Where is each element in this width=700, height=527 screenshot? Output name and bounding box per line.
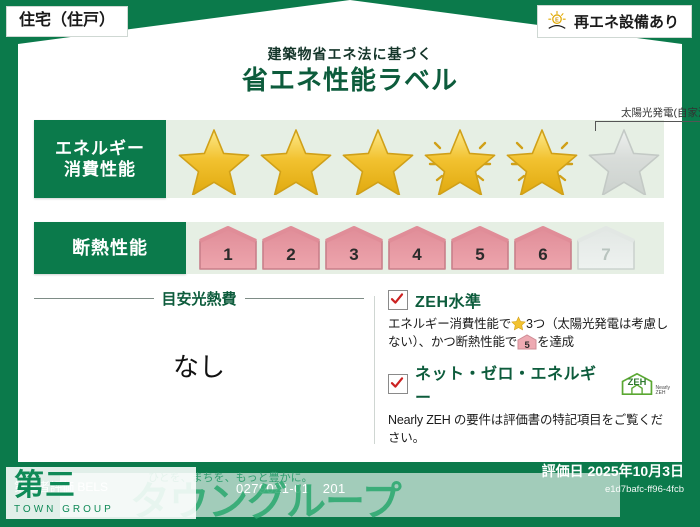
sun-icon: E <box>546 10 568 32</box>
zeh-desc-part1: エネルギー消費性能で <box>388 317 511 331</box>
footer-eval-id: e1d7bafc-ff96-4fcb <box>542 484 684 495</box>
insulation-grade-value: 4 <box>412 245 421 270</box>
insulation-grade-value: 2 <box>286 245 295 270</box>
insulation-grade-value: 7 <box>601 245 610 270</box>
energy-label-line2: 消費性能 <box>64 159 136 180</box>
net-zero-energy-header: ネット・ゼロ・エネルギー ZEH Nearly ZEH <box>388 360 670 408</box>
title-block: 建築物省エネ法に基づく 省エネ性能ラベル <box>0 44 700 94</box>
star-2 <box>256 123 336 195</box>
insulation-grade-2: 2 <box>261 226 321 270</box>
insulation-grade-list: 1 2 3 <box>198 226 636 270</box>
footer-third-party-eval: 第三者評価 BELS <box>14 478 108 495</box>
zeh-desc-star-count: 3つ <box>526 317 545 331</box>
inline-grade-badge: 5 <box>517 334 537 350</box>
insulation-grade-5: 5 <box>450 226 510 270</box>
energy-label-line1: エネルギー <box>55 138 145 159</box>
solar-badge-label: 再エネ設備あり <box>574 11 679 32</box>
zeh-section: ZEH水準 エネルギー消費性能で3つ（太陽光発電は考慮しない）、かつ断熱性能で5… <box>388 288 670 457</box>
inline-star-icon <box>511 316 526 331</box>
label-footer: 第三者評価 BELS 0279021-01 201 評価日 2025年10月3日… <box>0 463 700 525</box>
solar-generation-annotation: 太陽光発電(自家消費)分 <box>587 108 700 131</box>
zeh-standard-checkbox[interactable] <box>388 290 408 310</box>
utility-cost-section: 目安光熱費 なし <box>34 288 364 448</box>
inline-grade-value: 5 <box>517 341 537 351</box>
net-zero-energy-title: ネット・ゼロ・エネルギー <box>415 360 613 408</box>
zeh-house-icon: ZEH <box>620 372 654 396</box>
insulation-grade-value: 3 <box>349 245 358 270</box>
footer-eval-date: 評価日 2025年10月3日 <box>542 461 684 481</box>
insulation-grade-3: 3 <box>324 226 384 270</box>
star-3 <box>338 123 418 195</box>
insulation-grade-1: 1 <box>198 226 258 270</box>
zeh-standard-header: ZEH水準 <box>388 288 670 312</box>
insulation-grade-6: 6 <box>513 226 573 270</box>
title-subtitle: 建築物省エネ法に基づく <box>0 44 700 64</box>
rule-right <box>245 298 365 299</box>
check-icon <box>390 292 404 306</box>
star-4 <box>420 123 500 195</box>
net-zero-energy-checkbox[interactable] <box>388 374 408 394</box>
energy-performance-label: 住宅（住戸） E 再エネ設備あり 建築物省エネ法に基づく 省エネ性能ラベル <box>0 0 700 525</box>
insulation-grade-value: 1 <box>223 245 232 270</box>
footer-eval-info: 評価日 2025年10月3日 e1d7bafc-ff96-4fcb <box>542 461 684 495</box>
zeh-standard-item: ZEH水準 エネルギー消費性能で3つ（太陽光発電は考慮しない）、かつ断熱性能で5… <box>388 288 670 351</box>
insulation-performance-row: 断熱性能 1 2 <box>34 222 664 274</box>
insulation-grade-4: 4 <box>387 226 447 270</box>
star-rating <box>174 123 664 195</box>
zeh-logo-sub2: ZEH <box>656 390 666 396</box>
building-type-label: 住宅（住戸） <box>19 12 115 29</box>
footer-certificate-number: 0279021-01 201 <box>236 478 346 497</box>
section-divider <box>374 296 375 444</box>
star-5 <box>502 123 582 195</box>
energy-performance-label-box: エネルギー 消費性能 <box>34 120 166 198</box>
rule-left <box>34 298 154 299</box>
solar-equipment-badge[interactable]: E 再エネ設備あり <box>537 5 692 38</box>
net-zero-energy-item: ネット・ゼロ・エネルギー ZEH Nearly ZEH Nearly ZEH の… <box>388 360 670 447</box>
insulation-grade-7: 7 <box>576 226 636 270</box>
solar-annotation-bracket <box>595 121 700 131</box>
zeh-standard-title: ZEH水準 <box>415 288 482 312</box>
insulation-grades-panel: 1 2 3 <box>186 222 664 274</box>
solar-annotation-text: 太陽光発電(自家消費)分 <box>587 108 700 119</box>
energy-performance-row: エネルギー 消費性能 太陽光発電(自家消費)分 <box>34 120 664 198</box>
zeh-standard-description: エネルギー消費性能で3つ（太陽光発電は考慮しない）、かつ断熱性能で5を達成 <box>388 315 670 351</box>
insulation-grade-value: 5 <box>475 245 484 270</box>
insulation-label: 断熱性能 <box>72 237 148 260</box>
utility-cost-value: なし <box>34 347 364 384</box>
insulation-label-box: 断熱性能 <box>34 222 186 274</box>
insulation-grade-value: 6 <box>538 245 547 270</box>
zeh-desc-part3: を達成 <box>537 335 574 349</box>
utility-cost-title: 目安光熱費 <box>162 288 237 309</box>
utility-cost-heading: 目安光熱費 <box>34 288 364 309</box>
building-type-tab[interactable]: 住宅（住戸） <box>6 6 128 37</box>
svg-text:ZEH: ZEH <box>627 377 646 387</box>
check-icon <box>390 376 404 390</box>
star-6 <box>584 123 664 195</box>
zeh-logo: ZEH Nearly ZEH <box>620 372 670 396</box>
energy-stars-panel: 太陽光発電(自家消費)分 <box>166 120 664 198</box>
svg-text:E: E <box>555 18 559 24</box>
zeh-logo-subtext: Nearly ZEH <box>656 386 670 397</box>
page-title: 省エネ性能ラベル <box>0 67 700 94</box>
net-zero-energy-description: Nearly ZEH の要件は評価書の特記項目をご覧ください。 <box>388 411 670 447</box>
star-1 <box>174 123 254 195</box>
